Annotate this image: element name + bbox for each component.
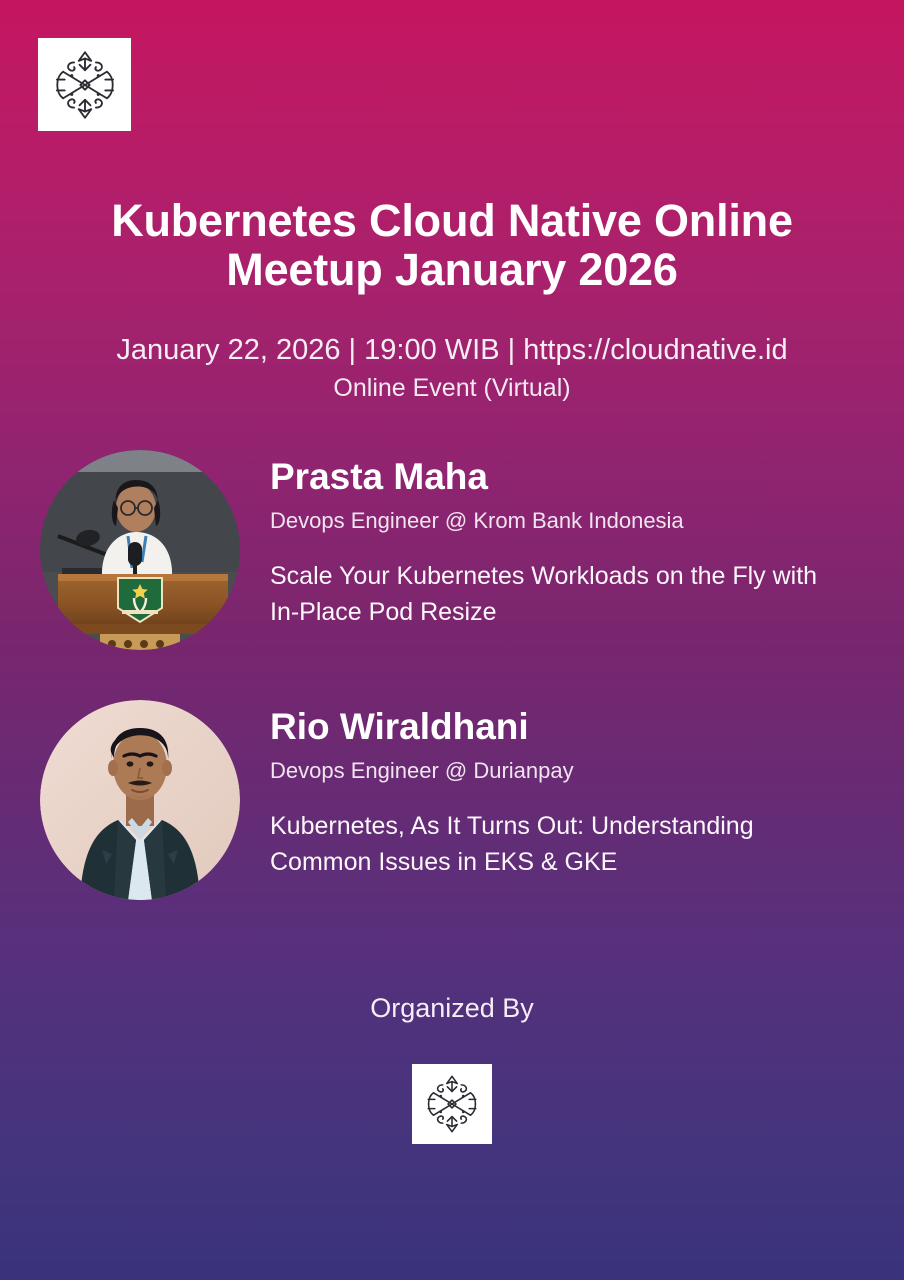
speaker-list: Prasta Maha Devops Engineer @ Krom Bank … <box>0 450 904 950</box>
event-mode-line: Online Event (Virtual) <box>24 371 880 407</box>
event-meta-block: January 22, 2026 | 19:00 WIB | https://c… <box>0 330 904 407</box>
speaker-info: Rio Wiraldhani Devops Engineer @ Durianp… <box>240 700 850 881</box>
speaker-info: Prasta Maha Devops Engineer @ Krom Bank … <box>240 450 850 631</box>
speaker-photo-prasta-maha <box>40 450 240 650</box>
cloud-native-ornament-icon <box>419 1071 485 1137</box>
speaker-name: Prasta Maha <box>270 456 850 497</box>
speaker-photo-rio-wiraldhani <box>40 700 240 900</box>
brand-logo-plate <box>38 38 131 131</box>
speaker-card: Prasta Maha Devops Engineer @ Krom Bank … <box>0 450 904 650</box>
speaker-role: Devops Engineer @ Krom Bank Indonesia <box>270 507 850 536</box>
footer: Organized By <box>0 993 904 1280</box>
title-block: Kubernetes Cloud Native Online Meetup Ja… <box>0 196 904 294</box>
organizer-logo-plate <box>412 1064 492 1144</box>
organized-by-label: Organized By <box>0 993 904 1024</box>
talk-title: Kubernetes, As It Turns Out: Understandi… <box>270 808 850 881</box>
speaker-role: Devops Engineer @ Durianpay <box>270 757 850 786</box>
speaker-card: Rio Wiraldhani Devops Engineer @ Durianp… <box>0 700 904 900</box>
event-datetime-line: January 22, 2026 | 19:00 WIB | https://c… <box>24 330 880 371</box>
talk-title: Scale Your Kubernetes Workloads on the F… <box>270 558 850 631</box>
speaker-name: Rio Wiraldhani <box>270 706 850 747</box>
page-title: Kubernetes Cloud Native Online Meetup Ja… <box>34 196 870 294</box>
cloud-native-ornament-icon <box>46 46 124 124</box>
